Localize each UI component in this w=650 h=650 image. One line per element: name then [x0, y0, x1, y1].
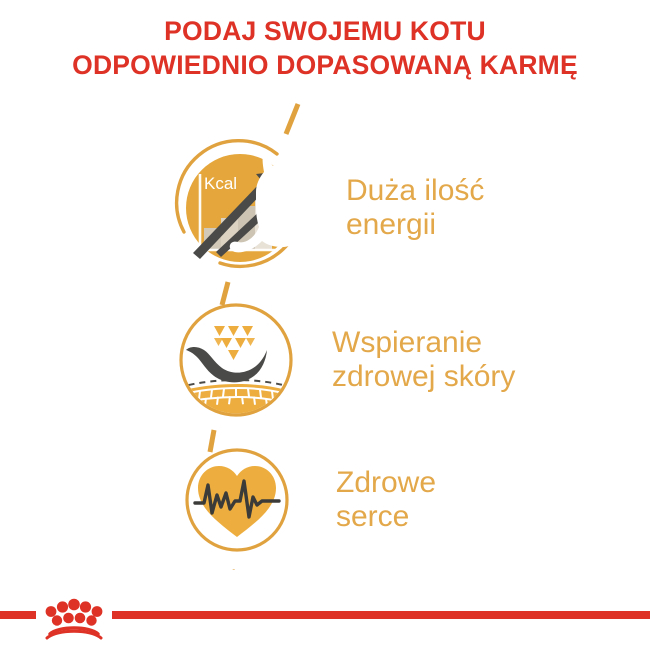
- page-title: PODAJ SWOJEMU KOTU ODPOWIEDNIO DOPASOWAN…: [0, 14, 650, 83]
- royal-canin-crown-logo: [0, 580, 650, 650]
- feature-item-heart: Zdrowe serce: [160, 445, 640, 555]
- cat-kcal-growth-chart-icon: Kcal: [160, 128, 320, 288]
- kcal-label: Kcal: [204, 174, 237, 193]
- page-title-line-1: PODAJ SWOJEMU KOTU: [0, 14, 650, 48]
- feature-label-skin: Wspieranie zdrowej skóry: [332, 326, 515, 394]
- brand-footer: [0, 580, 650, 650]
- heart-ecg-icon: [182, 445, 292, 555]
- page-title-line-2: ODPOWIEDNIO DOPASOWANĄ KARMĘ: [0, 48, 650, 82]
- feature-item-energy: Kcal Duża ilość energii: [160, 128, 640, 288]
- healthy-skin-coat-icon: [176, 300, 296, 420]
- feature-list: Kcal Duża ilość energii: [0, 100, 650, 570]
- feature-label-energy: Duża ilość energii: [346, 174, 484, 242]
- feature-label-heart: Zdrowe serce: [336, 466, 436, 534]
- feature-item-skin: Wspieranie zdrowej skóry: [160, 300, 640, 420]
